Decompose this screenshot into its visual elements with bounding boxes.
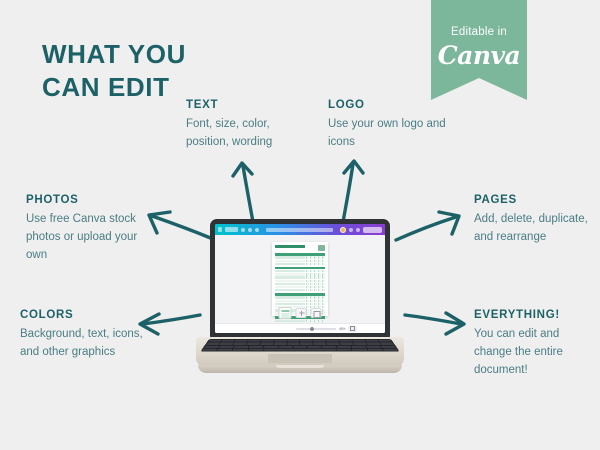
zoom-level-label: 46% [339,327,345,331]
callout-text-heading: TEXT [186,99,306,111]
table-row [275,276,325,278]
canva-canvas-area[interactable]: 46% [215,235,385,333]
callout-logo-heading: LOGO [328,99,448,111]
table-row [275,270,325,272]
download-icon[interactable] [349,228,353,232]
editable-in-canva-badge: Editable in Canva [431,0,527,100]
callout-pages-body: Add, delete, duplicate, and rearrange [474,211,592,247]
table-row [275,300,325,302]
document-logo-icon [318,245,325,251]
keyboard-row [204,346,396,348]
document-rows [275,256,325,265]
keyboard-row [202,349,398,351]
document-title-chip[interactable] [266,228,333,232]
table-row [275,283,325,285]
table-row [275,286,325,288]
callout-pages-heading: PAGES [474,194,592,206]
add-page-button[interactable] [296,308,307,318]
share-button[interactable] [363,227,382,233]
table-row [275,256,325,258]
page-thumbnail[interactable] [279,307,292,319]
table-row [275,303,325,305]
arrow-to-text-icon [233,163,253,222]
canva-editor-toolbar[interactable] [215,224,385,235]
callout-text-body: Font, size, color, position, wording [186,116,306,152]
laptop-front-notch [276,365,324,368]
document-section-band [275,293,325,296]
zoom-slider[interactable] [296,328,336,330]
settings-gear-icon[interactable] [255,228,259,232]
callout-photos-heading: PHOTOS [26,194,146,206]
arrow-to-everything-icon [405,313,464,334]
canva-brand-label: Canva [431,41,527,70]
document-section-band [275,253,325,256]
table-row [275,260,325,262]
callout-logo: LOGO Use your own logo and icons [328,99,448,152]
keyboard-row [208,340,392,342]
badge-top-label: Editable in [431,26,527,38]
duplicate-page-button[interactable] [311,308,322,318]
grid-icon [350,326,355,331]
callout-everything: EVERYTHING! You can edit and change the … [474,309,596,379]
laptop-screen: 46% [215,224,385,333]
page-title: WHAT YOU CAN EDIT [42,38,282,105]
table-row [275,280,325,282]
page-thumbnail-controls[interactable] [279,307,322,319]
laptop-mockup: 46% [196,219,404,381]
laptop-base [196,337,404,367]
callout-logo-body: Use your own logo and icons [328,116,448,152]
arrow-to-pages-icon [396,212,459,240]
canva-logo-icon [218,227,222,232]
keyboard-row [206,343,394,345]
document-header [275,245,325,251]
table-row [275,263,325,265]
table-row [275,273,325,275]
pages-button[interactable] [348,326,357,332]
undo-icon[interactable] [241,228,245,232]
table-row [275,320,325,322]
callout-colors: COLORS Background, text, icons, and othe… [20,309,148,362]
laptop-keyboard [200,339,399,352]
callout-colors-body: Background, text, icons, and other graph… [20,326,148,362]
document-section-band [275,267,325,270]
document-page-preview[interactable] [272,242,328,316]
infographic-canvas: WHAT YOU CAN EDIT Editable in Canva [0,0,600,450]
document-title-bar [275,245,305,248]
callout-pages: PAGES Add, delete, duplicate, and rearra… [474,194,592,247]
callout-everything-heading: EVERYTHING! [474,309,596,321]
callout-photos: PHOTOS Use free Canva stock photos or up… [26,194,146,264]
callout-photos-body: Use free Canva stock photos or upload yo… [26,211,146,264]
laptop-trackpad [268,354,332,363]
callout-colors-heading: COLORS [20,309,148,321]
document-rows [275,270,325,291]
table-row [275,289,325,291]
canva-bottom-bar[interactable]: 46% [215,323,385,333]
redo-icon[interactable] [248,228,252,232]
arrow-to-colors-icon [140,314,200,334]
zoom-slider-handle[interactable] [310,327,314,331]
avatar[interactable] [340,227,346,233]
laptop-lid: 46% [210,219,390,339]
arrow-to-logo-icon [343,161,363,222]
callout-everything-body: You can edit and change the entire docum… [474,326,596,379]
help-icon[interactable] [356,228,360,232]
toolbar-brand-chip[interactable] [225,227,238,232]
table-row [275,296,325,298]
callout-text: TEXT Font, size, color, position, wordin… [186,99,306,152]
page-title-line-1: WHAT YOU [42,38,282,71]
